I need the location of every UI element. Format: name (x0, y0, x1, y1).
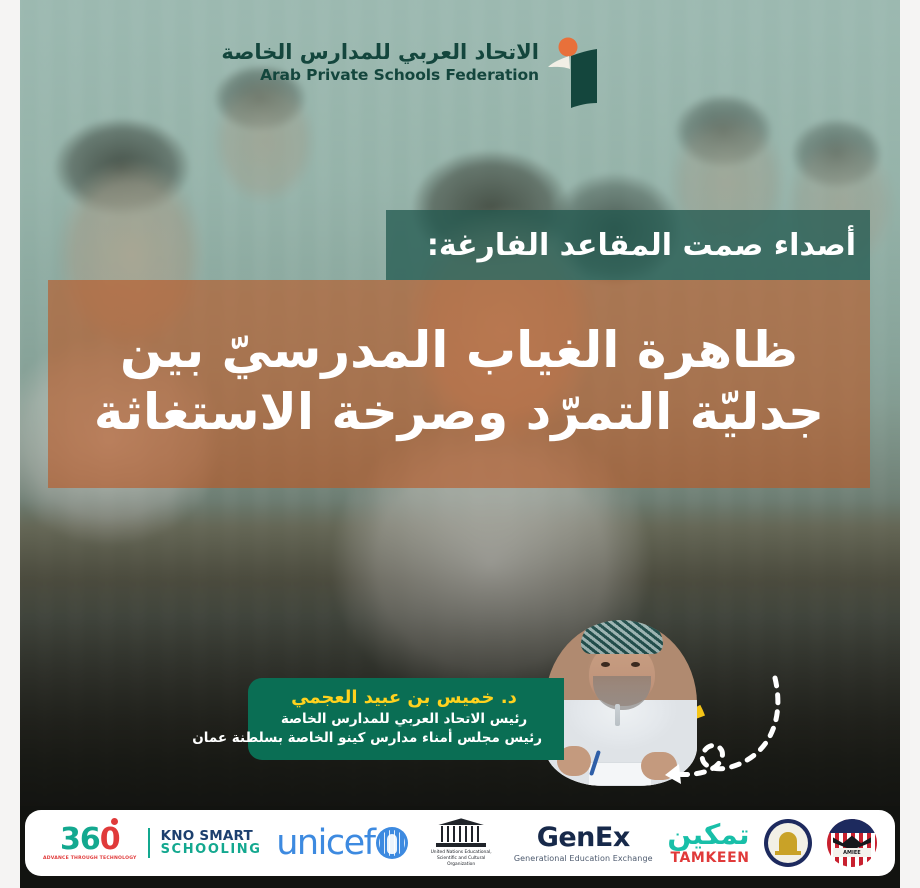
unesco-subtitle: United Nations Educational, Scientific a… (423, 850, 499, 867)
unesco-temple-roof (437, 818, 485, 825)
kno-360-number: 360 (60, 825, 120, 855)
genex-wordmark: GenEx (537, 824, 630, 851)
kno-360-num-36: 36 (60, 822, 100, 857)
kno-divider (148, 828, 150, 858)
kno-wordmark: KNO SMART SCHOOLING (161, 829, 262, 857)
unicef-wordmark: unicef (276, 826, 374, 861)
federation-logo-text: الاتحاد العربي للمدارس الخاصة Arab Priva… (221, 40, 539, 85)
portrait-eye-right (631, 662, 640, 667)
university-seal-base (775, 851, 801, 855)
kno-word-1: KNO SMART (161, 829, 262, 843)
amiee-eagle-icon: AMIEE (827, 819, 877, 867)
subtitle-text: أصداء صمت المقاعد الفارغة: (427, 228, 856, 263)
unesco-temple-columns (441, 826, 481, 842)
unicef-globe-icon (376, 827, 408, 859)
federation-logo: الاتحاد العربي للمدارس الخاصة Arab Priva… (322, 36, 597, 114)
logo-university-seal (764, 819, 812, 867)
open-book-icon (539, 36, 605, 108)
genex-subtitle: Generational Education Exchange (514, 854, 653, 863)
amiee-label: AMIEE (833, 848, 871, 857)
speaker-role-1: رئيس الاتحاد العربي للمدارس الخاصة (266, 710, 542, 729)
white-dashed-curved-arrow-icon (657, 672, 787, 792)
tamkeen-english: TAMKEEN (670, 850, 749, 866)
portrait-turban (581, 620, 663, 654)
main-title-line-2: جدليّة التمرّد وصرخة الاستغاثة (94, 381, 824, 443)
unesco-temple-base (436, 843, 486, 847)
logo-amiee-emblem: AMIEE (827, 819, 877, 867)
portrait-tassel (615, 704, 620, 726)
poster-canvas: الاتحاد العربي للمدارس الخاصة Arab Priva… (0, 0, 920, 888)
federation-logo-english: Arab Private Schools Federation (221, 67, 539, 85)
unesco-temple-icon (435, 818, 487, 848)
kno-360-dot-icon (111, 818, 118, 825)
speaker-name: د. خميس بن عبيد العجمي (266, 687, 542, 710)
university-seal-icon (764, 819, 812, 867)
logo-genex: GenEx Generational Education Exchange (514, 824, 653, 863)
main-title-band: ظاهرة الغياب المدرسيّ بين جدليّة التمرّد… (48, 280, 870, 488)
logo-unesco: United Nations Educational, Scientific a… (423, 818, 499, 867)
logo-tamkeen: تمكين TAMKEEN (667, 821, 749, 866)
subtitle-band: أصداء صمت المقاعد الفارغة: (386, 210, 870, 280)
speaker-role-2: رئيس مجلس أمناء مدارس كينو الخاصة بسلطنة… (266, 729, 542, 748)
federation-logo-arabic: الاتحاد العربي للمدارس الخاصة (221, 40, 539, 64)
kno-word-2: SCHOOLING (161, 843, 262, 857)
portrait-eye-left (601, 662, 610, 667)
kno-360-num-0: 0 (100, 822, 120, 857)
speaker-name-card: د. خميس بن عبيد العجمي رئيس الاتحاد العر… (248, 678, 564, 760)
main-title-line-1: ظاهرة الغياب المدرسيّ بين (120, 319, 798, 381)
footer-logo-panel: 360 ADVANCE THROUGH TECHNOLOGY KNO SMART… (25, 810, 895, 876)
tamkeen-arabic: تمكين (667, 821, 749, 849)
logo-unicef: unicef (276, 826, 408, 861)
logo-kno-smart-schooling: 360 ADVANCE THROUGH TECHNOLOGY KNO SMART… (43, 825, 262, 861)
